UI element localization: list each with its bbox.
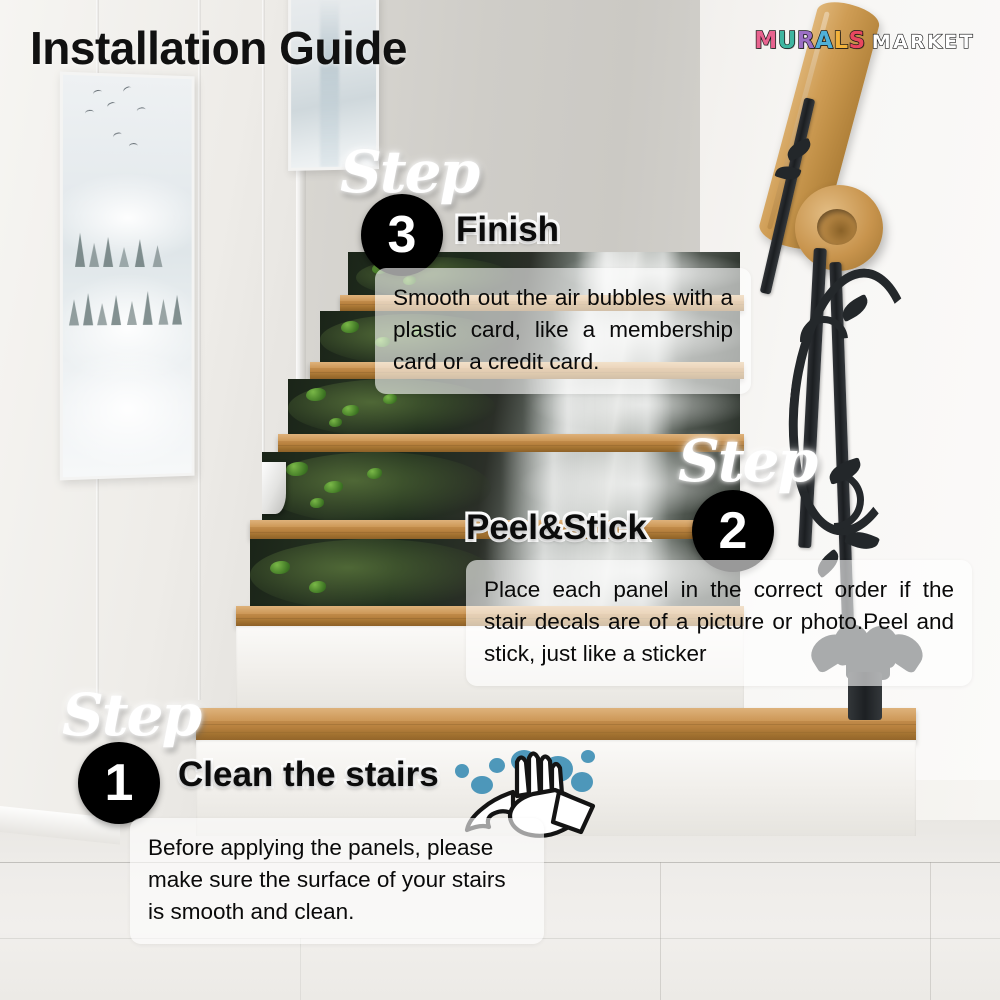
step-2-heading: Peel&Stick	[466, 508, 647, 548]
step-1-script-label: Step	[62, 686, 200, 744]
stair-tread	[278, 434, 744, 452]
step-2-script-label: Step	[678, 432, 816, 490]
brand-logo-market: MARKET	[872, 31, 975, 53]
page-title: Installation Guide	[30, 21, 407, 75]
step-1-heading: Clean the stairs	[178, 755, 439, 795]
step-1-body-text: Before applying the panels, please make …	[130, 818, 544, 944]
step-3-heading: Finish	[456, 210, 559, 250]
logo-letter-a: A	[815, 30, 833, 53]
step-3-number-badge: 3	[361, 194, 443, 276]
brand-logo-murals: M U R A L S	[754, 30, 865, 53]
brand-logo: M U R A L S MARKET	[754, 30, 975, 53]
handrail-volute-scroll	[795, 185, 883, 271]
logo-letter-m: M	[754, 30, 777, 53]
logo-letter-s: S	[849, 30, 866, 53]
stair-tread-bottom	[196, 708, 916, 742]
step-3-body-text: Smooth out the air bubbles with a plasti…	[375, 268, 751, 394]
logo-letter-r: R	[797, 30, 815, 53]
step-1-number-badge: 1	[78, 742, 160, 824]
decal-peeling-corner	[262, 462, 286, 514]
installation-guide-image: Installation Guide M U R A L S MARKET St…	[0, 0, 1000, 1000]
step-3-script-label: Step	[340, 143, 478, 201]
logo-letter-l: L	[833, 30, 848, 53]
step-2-body-text: Place each panel in the correct order if…	[466, 560, 972, 686]
logo-letter-u: U	[778, 30, 797, 53]
